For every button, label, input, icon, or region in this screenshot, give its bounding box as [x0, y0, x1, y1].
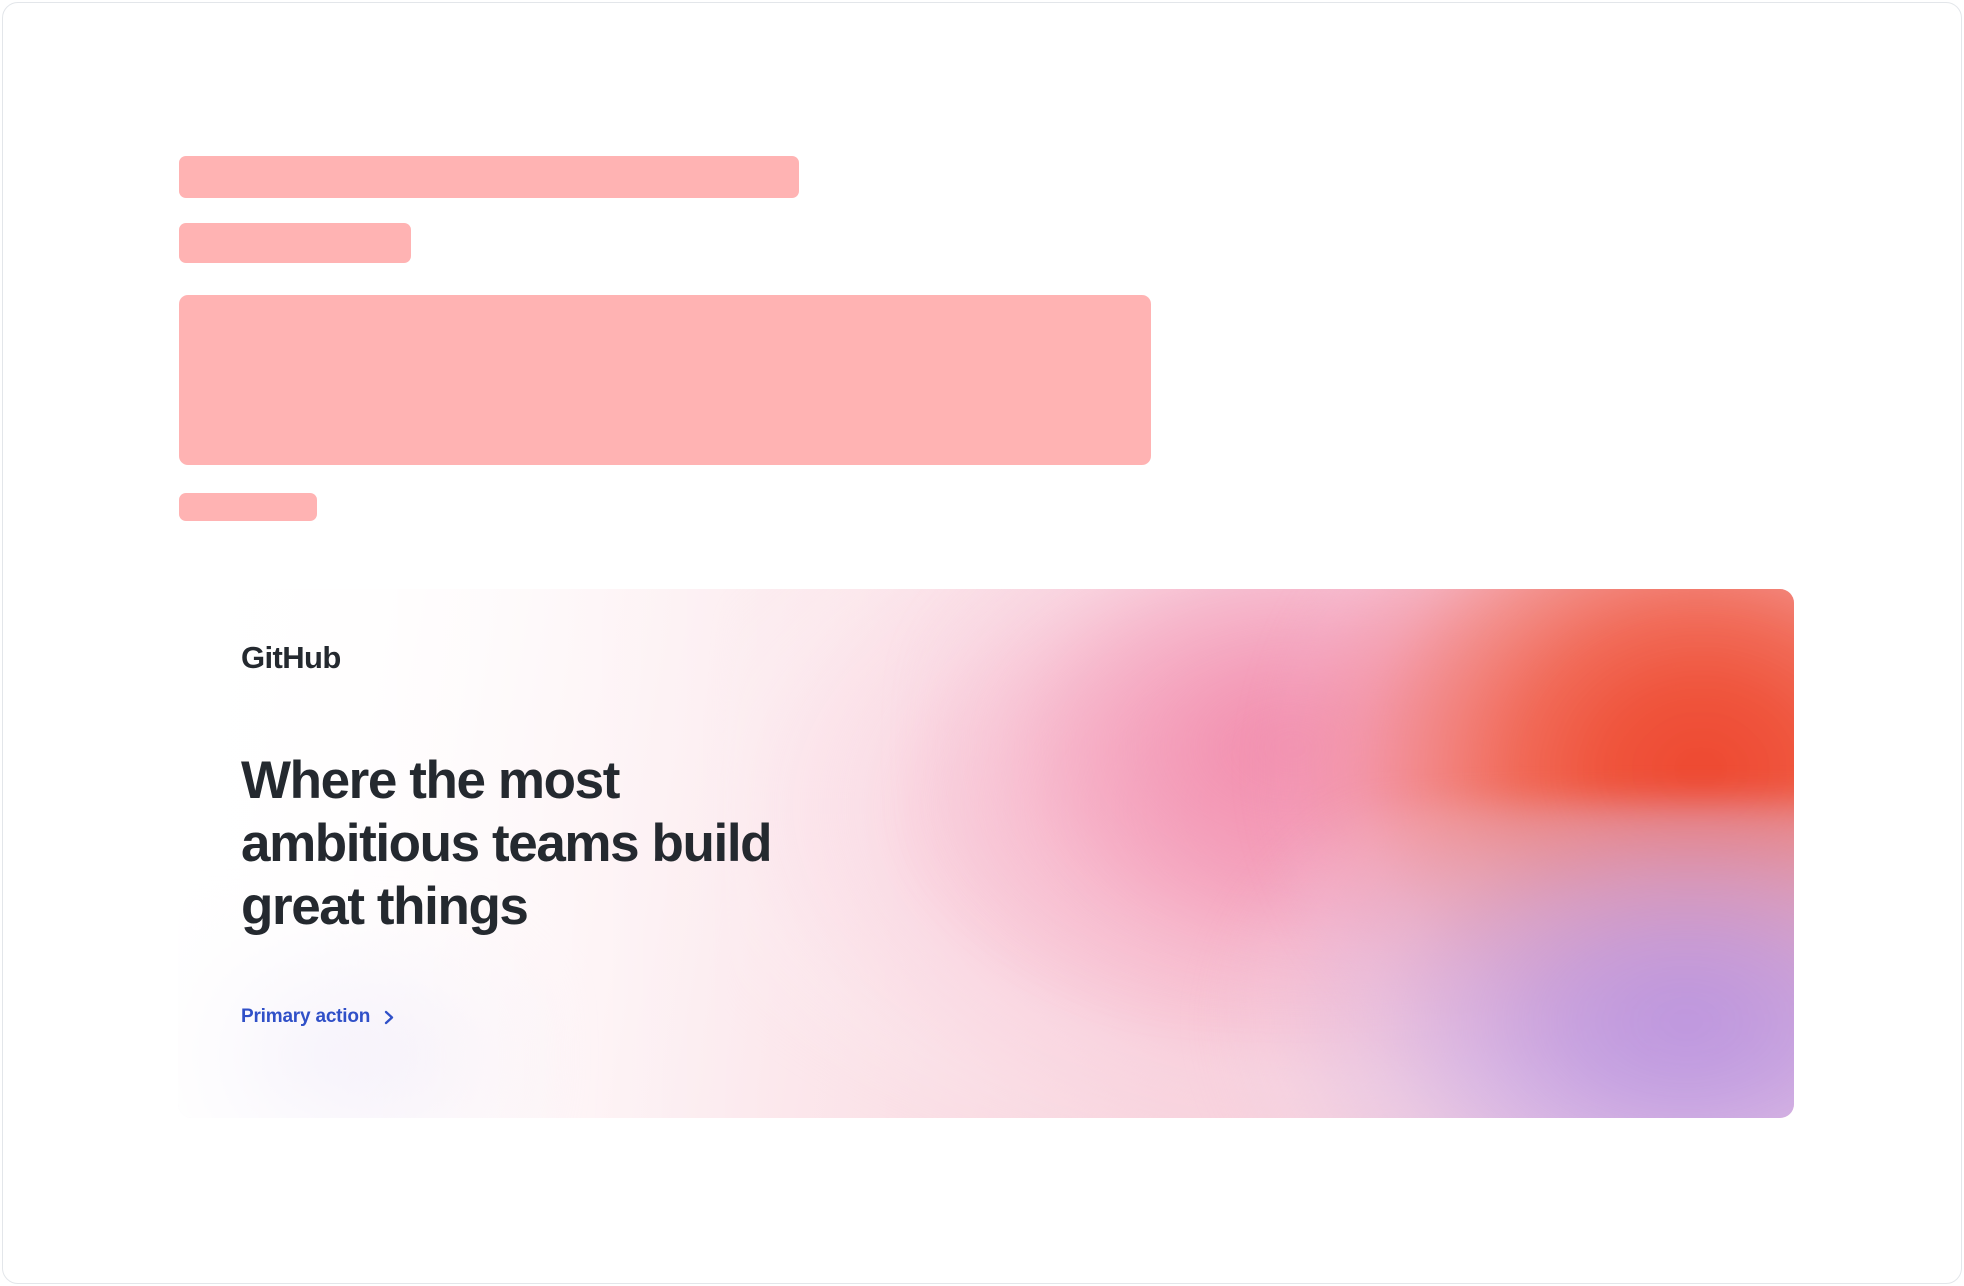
chevron-right-icon — [383, 1010, 396, 1025]
github-promo-card[interactable]: GitHub Where the most ambitious teams bu… — [178, 589, 1794, 1118]
promo-card-content: GitHub Where the most ambitious teams bu… — [241, 641, 1001, 1028]
primary-action-label: Primary action — [241, 1006, 370, 1028]
brand-name: GitHub — [241, 641, 1001, 675]
placeholder-line-small — [179, 493, 317, 521]
placeholder-line-2 — [179, 223, 411, 263]
page-frame: GitHub Where the most ambitious teams bu… — [2, 2, 1962, 1284]
placeholder-block-large — [179, 295, 1151, 465]
placeholder-line-1 — [179, 156, 799, 198]
card-headline: Where the most ambitious teams build gre… — [241, 749, 841, 938]
primary-action-link[interactable]: Primary action — [241, 1006, 396, 1028]
